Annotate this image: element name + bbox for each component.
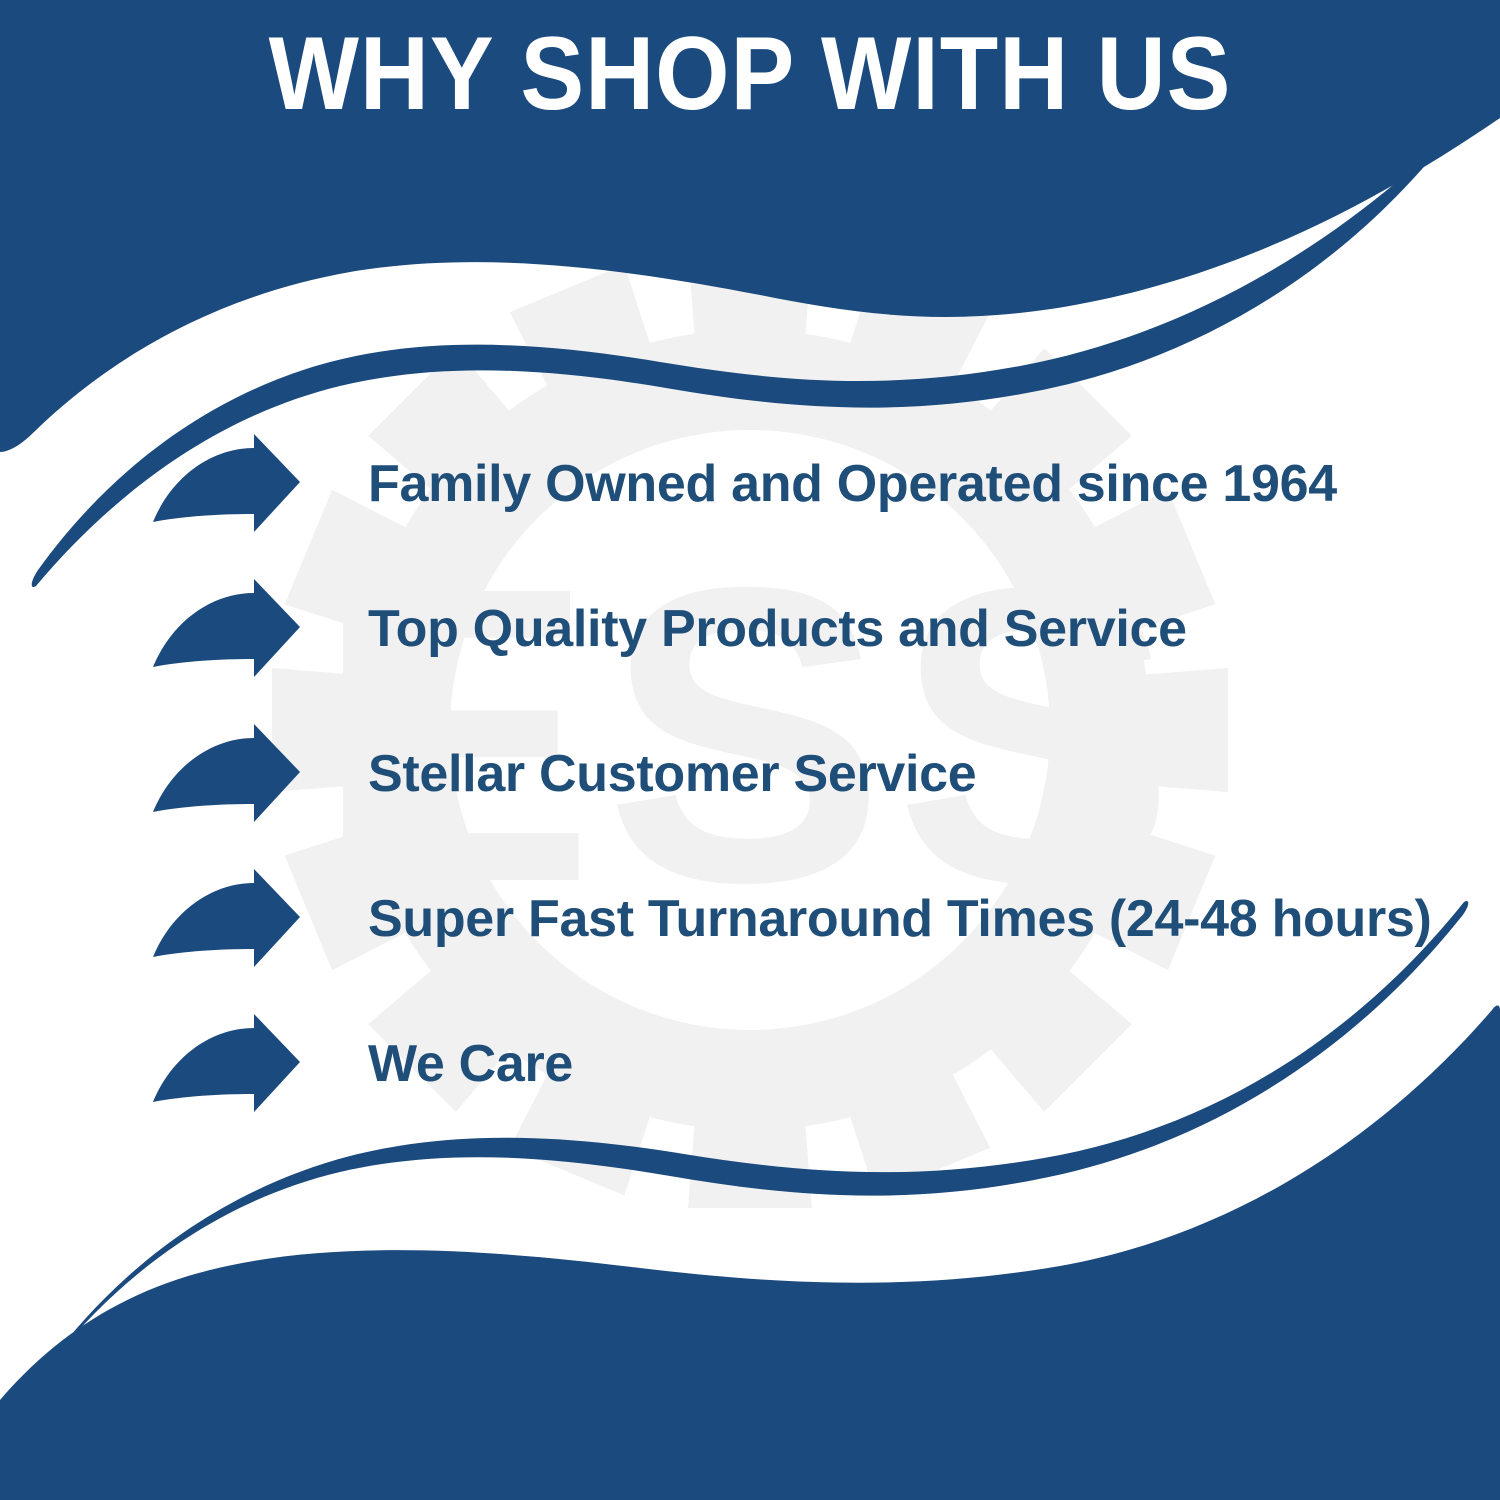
list-item: Stellar Customer Service bbox=[150, 722, 1450, 826]
curved-arrow-right-icon bbox=[150, 432, 302, 536]
curved-arrow-right-icon bbox=[150, 722, 302, 826]
curved-arrow-right-icon bbox=[150, 577, 302, 681]
list-item: Super Fast Turnaround Times (24-48 hours… bbox=[150, 867, 1450, 971]
list-item: Top Quality Products and Service bbox=[150, 577, 1450, 681]
poster-canvas: ESS WHY SHOP WITH US Family Owned and Op… bbox=[0, 0, 1500, 1500]
list-item: Family Owned and Operated since 1964 bbox=[150, 432, 1450, 536]
list-item-label: We Care bbox=[368, 1034, 1450, 1094]
curved-arrow-right-icon bbox=[150, 1012, 302, 1116]
benefit-list: Family Owned and Operated since 1964 Top… bbox=[150, 432, 1450, 1116]
page-title: WHY SHOP WITH US bbox=[60, 18, 1440, 130]
list-item-label: Stellar Customer Service bbox=[368, 744, 1450, 804]
list-item: We Care bbox=[150, 1012, 1450, 1116]
list-item-label: Super Fast Turnaround Times (24-48 hours… bbox=[368, 889, 1450, 949]
list-item-label: Family Owned and Operated since 1964 bbox=[368, 454, 1450, 514]
list-item-label: Top Quality Products and Service bbox=[368, 599, 1450, 659]
curved-arrow-right-icon bbox=[150, 867, 302, 971]
